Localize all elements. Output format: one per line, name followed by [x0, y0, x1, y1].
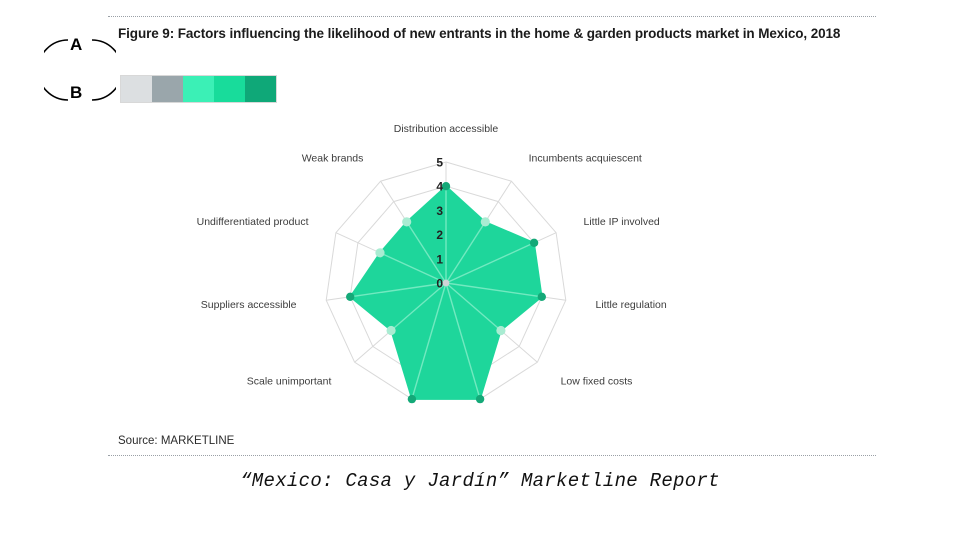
source-attribution: Source: MARKETLINE [118, 435, 234, 447]
axis-label-4: Low fixed costs [561, 376, 633, 388]
axis-label-3: Little regulation [596, 299, 667, 311]
data-point-7 [387, 326, 396, 335]
data-point-4 [496, 326, 505, 335]
legend-swatch-3 [214, 76, 245, 102]
data-point-2 [530, 239, 538, 247]
axis-label-8: Suppliers accessible [201, 299, 297, 311]
data-point-1 [481, 217, 490, 226]
tick-label-5: 5 [436, 156, 443, 170]
slide-caption: “Mexico: Casa y Jardín” Marketline Repor… [0, 470, 960, 492]
axis-label-1: Incumbents acquiescent [529, 153, 642, 165]
radar-center-dot [443, 280, 450, 287]
axis-label-10: Weak brands [302, 153, 364, 165]
data-point-3 [538, 293, 546, 301]
tick-label-0: 0 [436, 277, 443, 291]
tick-label-4: 4 [436, 180, 443, 194]
tick-label-3: 3 [436, 204, 443, 218]
radar-chart-svg: 012345 Distribution accessibleIncumbents… [108, 113, 876, 413]
data-point-6 [408, 395, 416, 403]
axis-label-9: Undifferentiated product [197, 216, 309, 228]
annotation-label-a: A [70, 36, 82, 53]
axis-label-2: Little IP involved [584, 216, 660, 228]
legend-swatch-2 [183, 76, 214, 102]
data-point-8 [346, 293, 354, 301]
figure-container: Figure 9: Factors influencing the likeli… [108, 16, 876, 456]
axis-label-0: Distribution accessible [394, 123, 499, 135]
rotation-arc-annotation: A B [44, 28, 116, 112]
slide-canvas: A B Figure 9: Factors influencing the li… [0, 0, 960, 540]
tick-label-1: 1 [436, 252, 443, 266]
axis-label-7: Scale unimportant [247, 376, 332, 388]
legend-swatch-0 [121, 76, 152, 102]
legend-swatch-4 [245, 76, 276, 102]
figure-title: Figure 9: Factors influencing the likeli… [118, 25, 870, 42]
radar-chart: 012345 Distribution accessibleIncumbents… [108, 113, 876, 413]
data-point-5 [476, 395, 484, 403]
data-point-10 [402, 217, 411, 226]
legend-swatch-1 [152, 76, 183, 102]
data-point-0 [442, 182, 450, 190]
color-scale-legend [120, 75, 277, 103]
data-point-9 [375, 248, 384, 257]
tick-label-2: 2 [436, 228, 443, 242]
annotation-label-b: B [70, 84, 82, 101]
